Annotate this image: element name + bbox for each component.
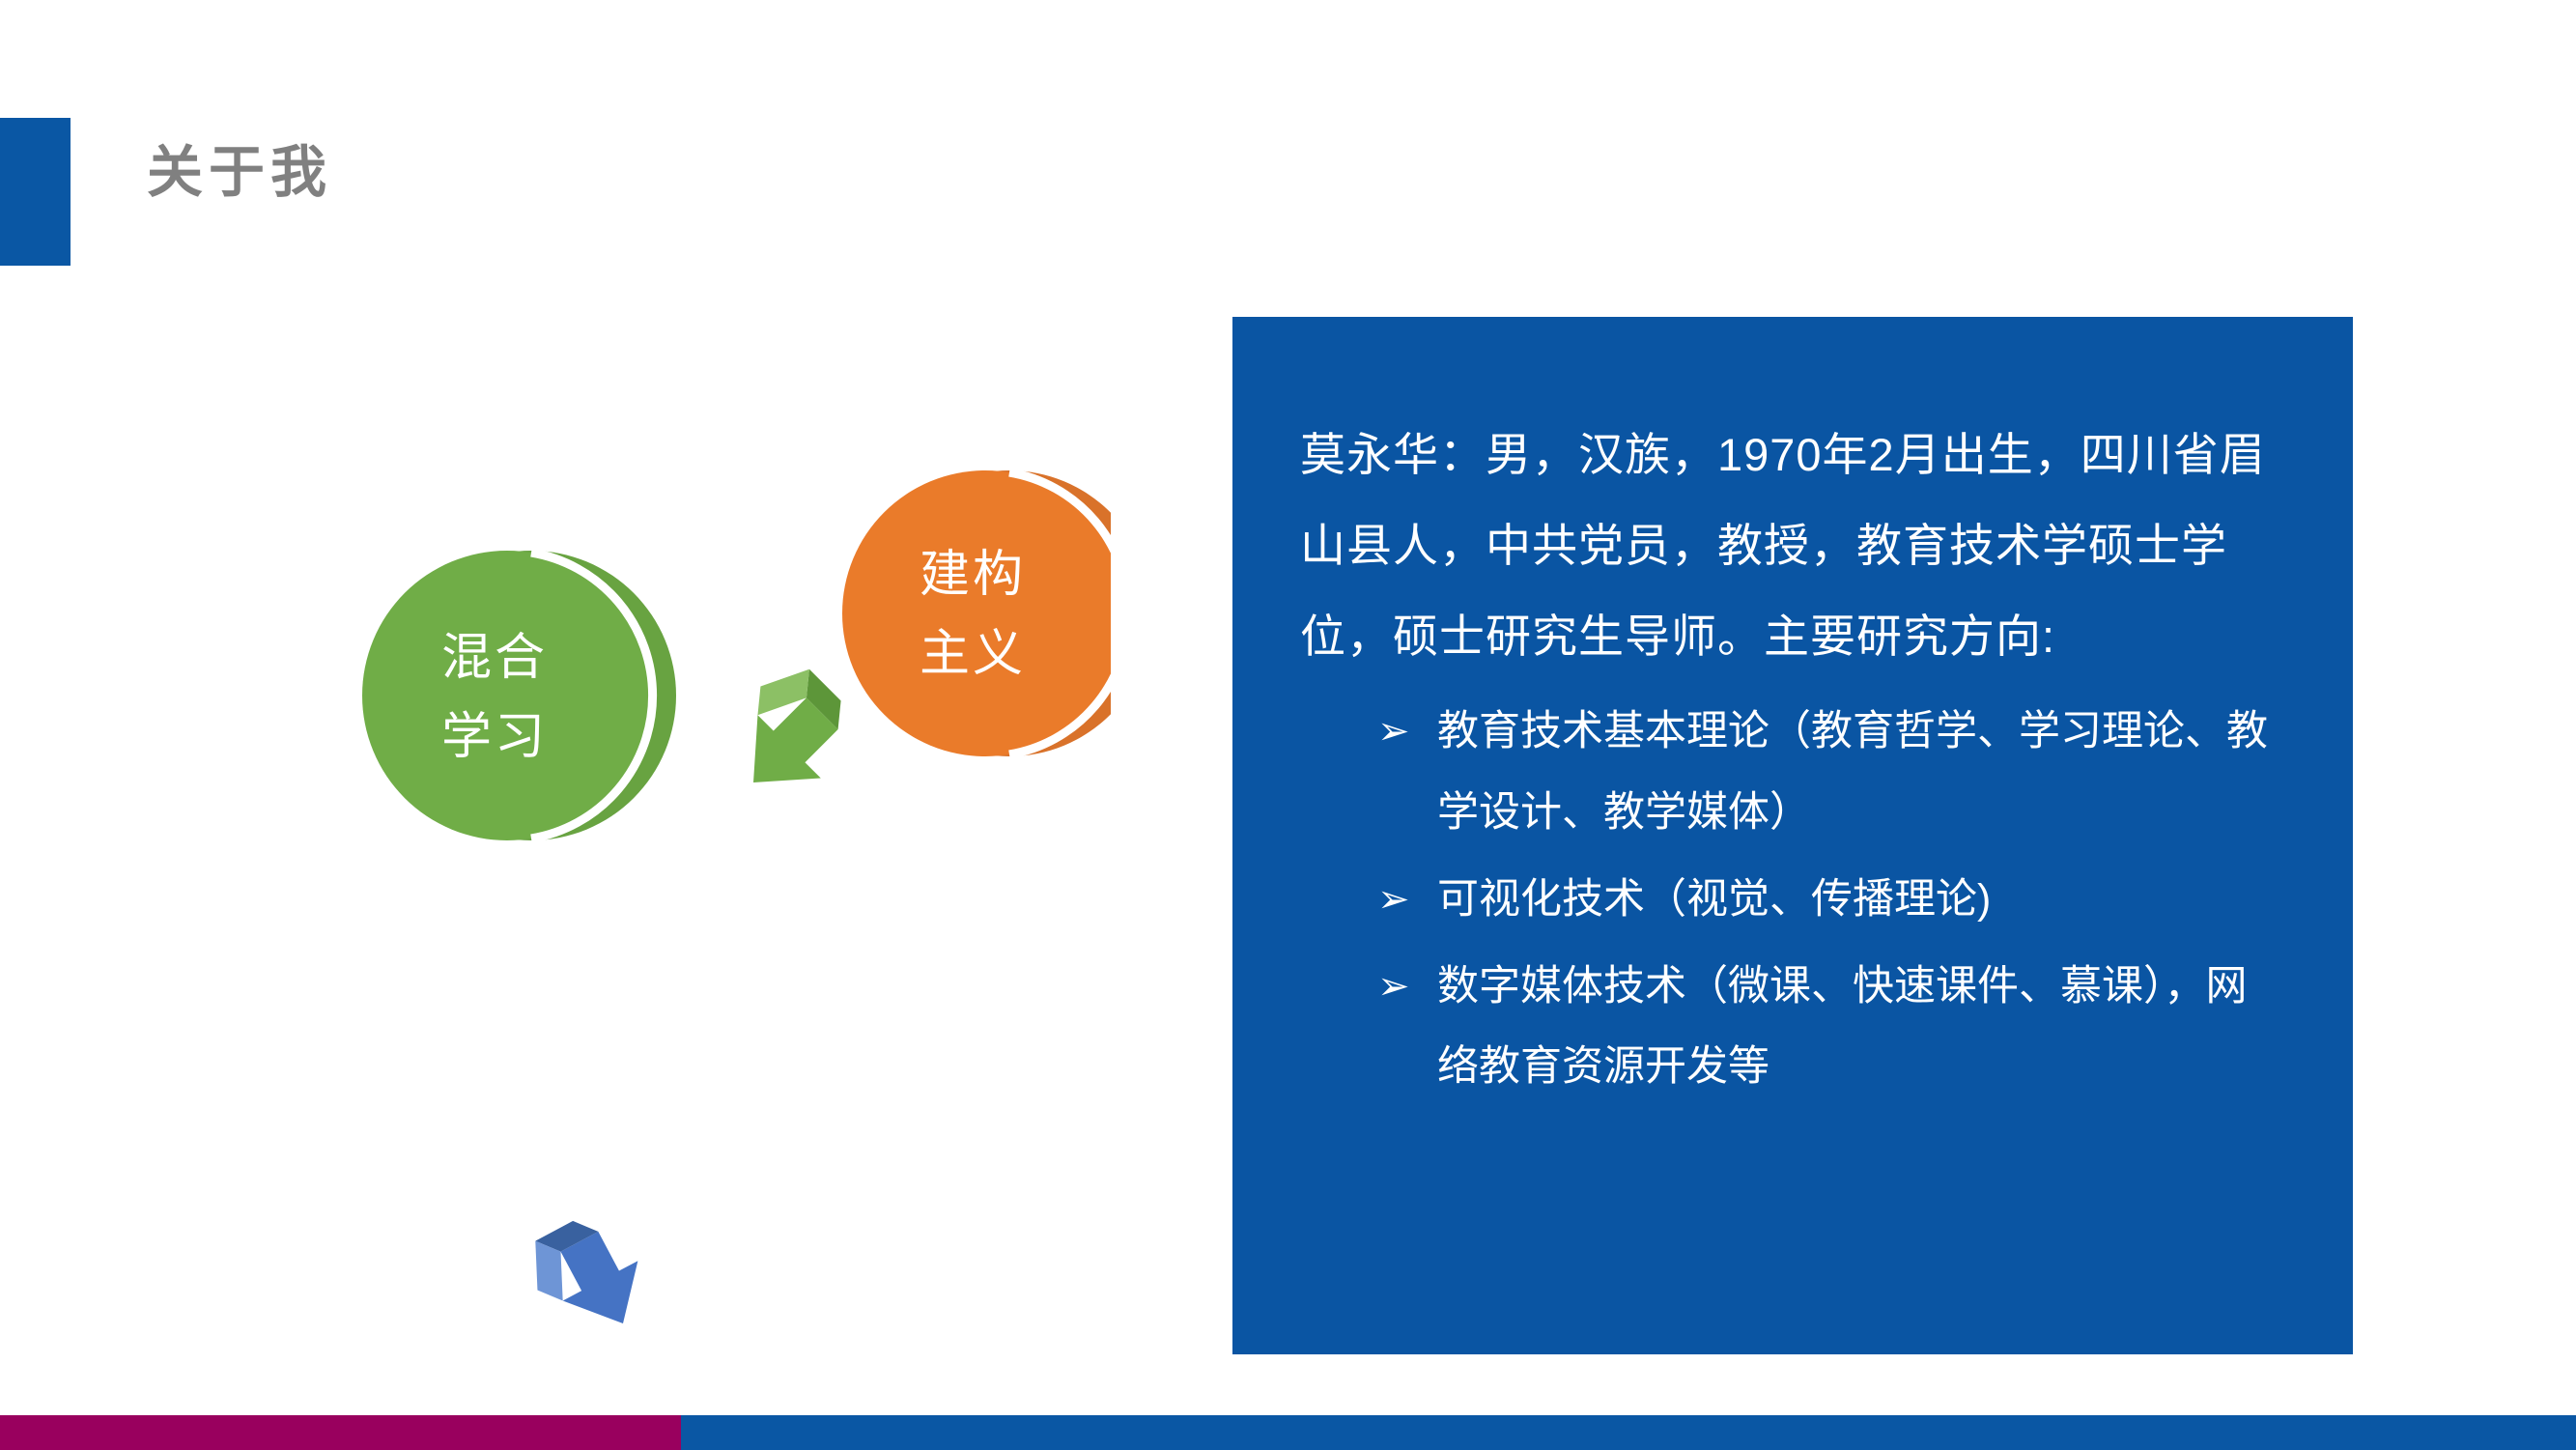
arrow-bullet-icon: ➢ — [1377, 862, 1420, 937]
list-item-label: 数字媒体技术（微课、快速课件、慕课），网络教育资源开发等 — [1437, 963, 2248, 1091]
label-line: 学习 — [441, 709, 548, 765]
bio-paragraph: 莫永华：男，汉族，1970年2月出生，四川省眉山县人，中共党员，教授，教育技术学… — [1300, 410, 2285, 682]
cycle-node-blended-learning[interactable] — [362, 551, 676, 840]
arrow-micro-mooc-to-blended-learning — [517, 1203, 661, 1333]
slide-canvas: 关于我 — [0, 0, 2576, 1450]
arrow-blended-learning-to-constructivism — [709, 653, 869, 813]
research-areas-cycle-diagram: 混合 学习 建构 主义 学习 理论 可视 化 微课、 慕课 — [241, 367, 1111, 1333]
list-item: ➢ 可视化技术（视觉、传播理论) — [1377, 860, 2285, 941]
list-item: ➢ 数字媒体技术（微课、快速课件、慕课），网络教育资源开发等 — [1377, 947, 2285, 1109]
arrow-bullet-icon: ➢ — [1377, 949, 1420, 1024]
page-title: 关于我 — [147, 145, 332, 201]
title-accent-bar — [0, 118, 71, 266]
list-item-label: 教育技术基本理论（教育哲学、学习理论、教学设计、教学媒体） — [1437, 708, 2268, 836]
arrow-bullet-icon: ➢ — [1377, 694, 1420, 769]
cycle-node-constructivism[interactable] — [842, 470, 1111, 756]
footer-bar — [0, 1415, 2576, 1450]
label-line: 混合 — [441, 630, 548, 686]
label-line: 主义 — [920, 626, 1026, 682]
research-directions-list: ➢ 教育技术基本理论（教育哲学、学习理论、教学设计、教学媒体） ➢ 可视化技术（… — [1300, 692, 2285, 1108]
list-item: ➢ 教育技术基本理论（教育哲学、学习理论、教学设计、教学媒体） — [1377, 692, 2285, 854]
about-me-info-panel: 莫永华：男，汉族，1970年2月出生，四川省眉山县人，中共党员，教授，教育技术学… — [1232, 317, 2353, 1354]
list-item-label: 可视化技术（视觉、传播理论) — [1437, 876, 1991, 923]
footer-bar-left-segment — [0, 1415, 681, 1450]
footer-bar-right-segment — [681, 1415, 2576, 1450]
label-line: 建构 — [920, 547, 1026, 603]
